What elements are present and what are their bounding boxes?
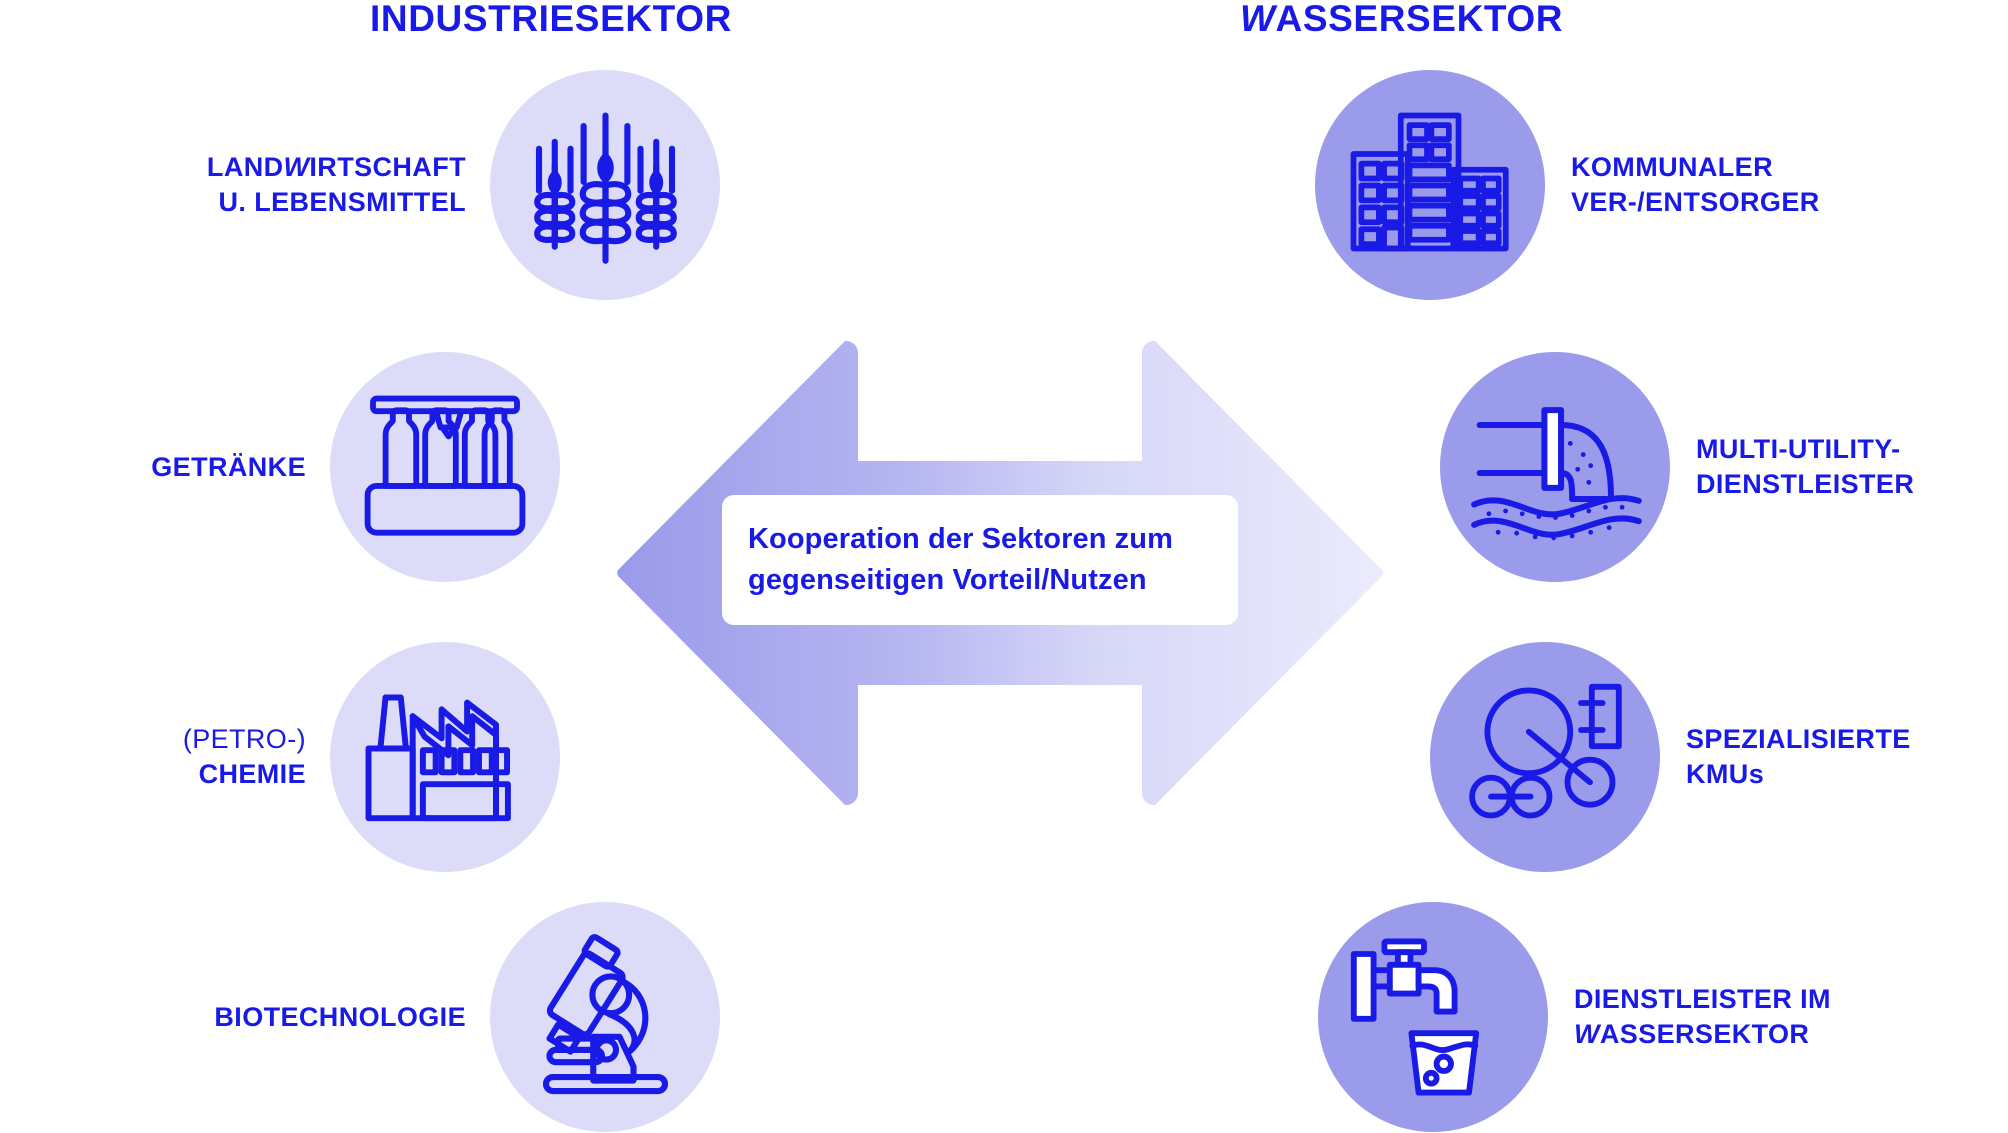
- industry-item-chemistry[interactable]: (PETRO-)CHEMIE: [0, 642, 560, 872]
- water-item-label-municipal: KOMMUNALER VER-/ENTSORGER: [1571, 150, 1820, 219]
- water-item-label-multi-utility: MULTI-UTILITY- DIENSTLEISTER: [1696, 432, 1914, 501]
- water-item-service-provider[interactable]: DIENSTLEISTER IMWASSERSEKTOR: [1318, 902, 1831, 1132]
- center-message-text: Kooperation der Sektoren zum gegenseitig…: [722, 519, 1173, 601]
- industry-item-beverages[interactable]: GETRÄNKE: [0, 352, 560, 582]
- process-diagram-icon: [1430, 642, 1660, 872]
- faucet-glass-icon: [1318, 902, 1548, 1132]
- bottling-line-icon: [330, 352, 560, 582]
- industry-item-label-chemistry: (PETRO-)CHEMIE: [183, 722, 306, 791]
- industry-item-label-agriculture: LANDWIRTSCHAFTU. LEBENSMITTEL: [207, 150, 466, 219]
- discharge-pipe-icon: [1440, 352, 1670, 582]
- industry-item-agriculture[interactable]: LANDWIRTSCHAFTU. LEBENSMITTEL: [0, 70, 720, 300]
- diagram-canvas: INDUSTRIESEKTOR WASSERSEKTOR Kooperation…: [0, 0, 2008, 1133]
- water-item-sme[interactable]: SPEZIALISIERTE KMUs: [1430, 642, 1911, 872]
- water-item-multi-utility[interactable]: MULTI-UTILITY- DIENSTLEISTER: [1440, 352, 1914, 582]
- water-item-label-service-provider: DIENSTLEISTER IMWASSERSEKTOR: [1574, 982, 1831, 1051]
- water-item-label-sme: SPEZIALISIERTE KMUs: [1686, 722, 1911, 791]
- industry-item-biotechnology[interactable]: BIOTECHNOLOGIE: [0, 902, 720, 1132]
- city-buildings-icon: [1315, 70, 1545, 300]
- center-message-box: Kooperation der Sektoren zum gegenseitig…: [722, 495, 1238, 625]
- column-header-water: WASSERSEKTOR: [1240, 0, 1563, 40]
- water-item-municipal[interactable]: KOMMUNALER VER-/ENTSORGER: [1315, 70, 1820, 300]
- wheat-icon: [490, 70, 720, 300]
- column-header-industry: INDUSTRIESEKTOR: [370, 0, 732, 40]
- factory-icon: [330, 642, 560, 872]
- industry-item-label-biotechnology: BIOTECHNOLOGIE: [214, 1000, 466, 1035]
- microscope-icon: [490, 902, 720, 1132]
- industry-item-label-beverages: GETRÄNKE: [151, 450, 306, 485]
